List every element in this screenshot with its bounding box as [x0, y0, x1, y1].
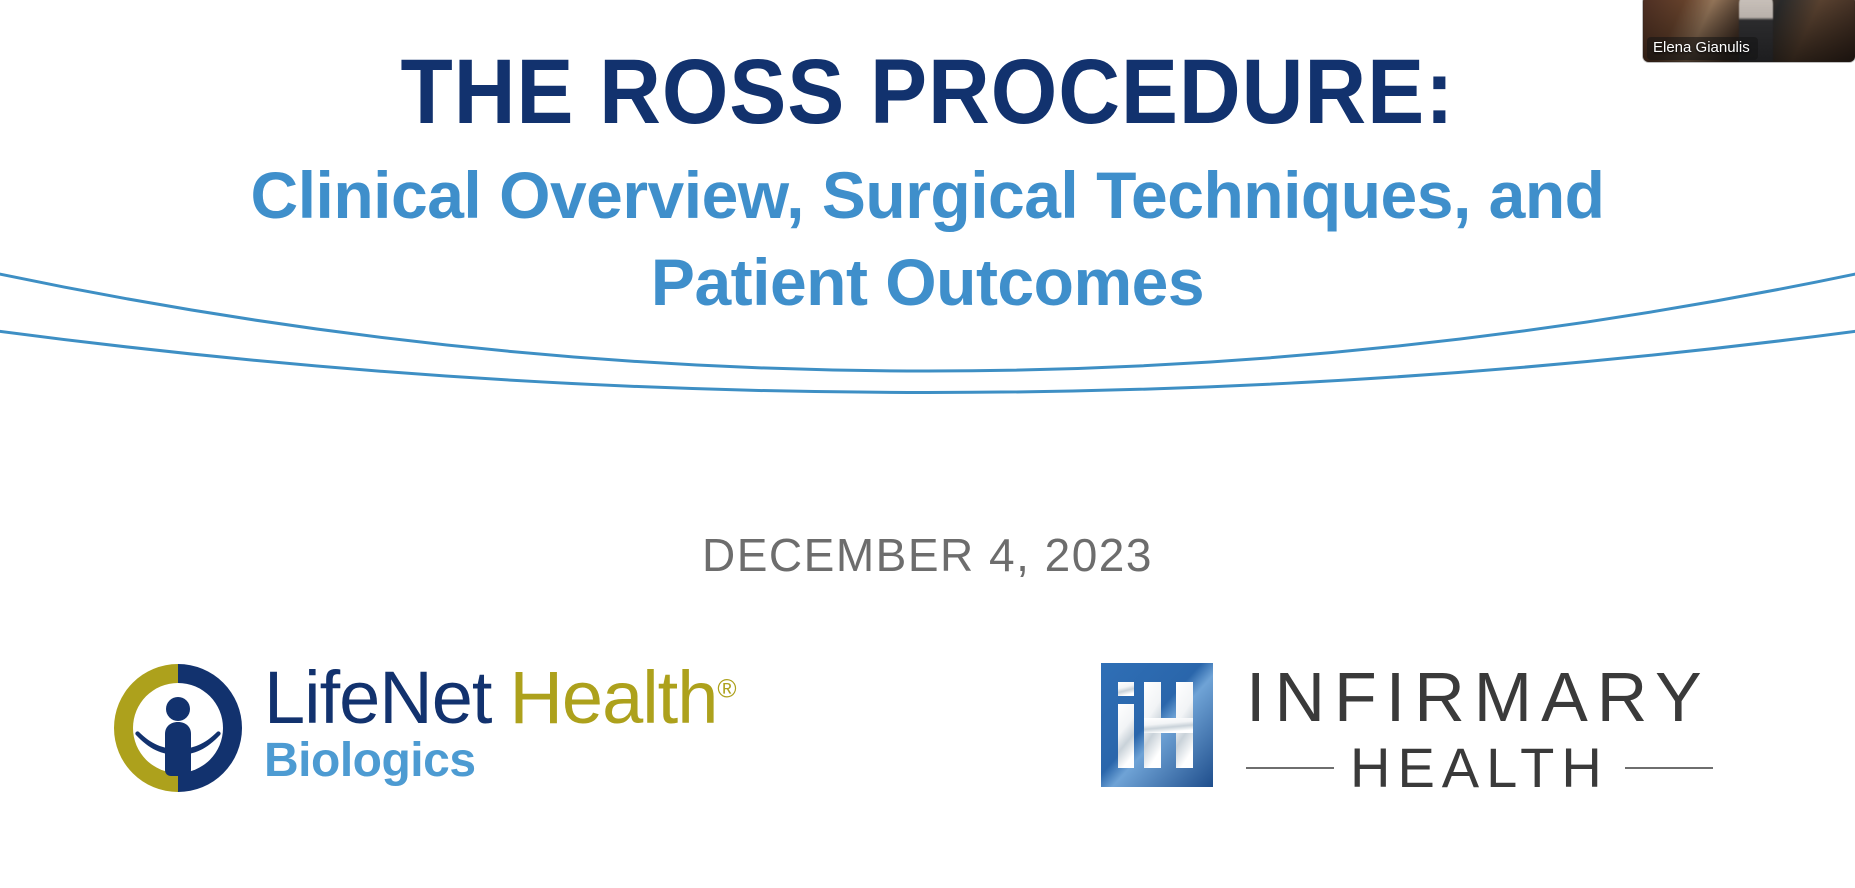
infirmary-wordmark: INFIRMARY HEALTH — [1246, 662, 1713, 796]
page-subtitle: Clinical Overview, Surgical Techniques, … — [0, 152, 1855, 326]
presentation-slide: THE ROSS PROCEDURE: Clinical Overview, S… — [0, 0, 1855, 888]
health-word: HEALTH — [1350, 740, 1609, 796]
lifenet-wordmark: LifeNetHealth® Biologics — [264, 662, 737, 785]
lifenet-tagline: Biologics — [264, 737, 737, 785]
page-title: THE ROSS PROCEDURE: — [65, 46, 1790, 138]
infirmary-health-row: HEALTH — [1246, 740, 1713, 796]
lifenet-primary-wordmark: LifeNetHealth® — [264, 662, 737, 735]
title-block: THE ROSS PROCEDURE: Clinical Overview, S… — [0, 46, 1855, 326]
rule-left — [1246, 767, 1334, 769]
infirmary-health-logo: INFIRMARY HEALTH — [1098, 660, 1713, 796]
rule-right — [1625, 767, 1713, 769]
presentation-date: DECEMBER 4, 2023 — [0, 528, 1855, 582]
registered-trademark-icon: ® — [717, 673, 736, 703]
participant-video-tile[interactable]: Elena Gianulis — [1643, 0, 1855, 62]
infirmary-word: INFIRMARY — [1246, 662, 1713, 732]
logo-row: LifeNetHealth® Biologics — [0, 650, 1855, 830]
health-word: Health — [509, 656, 717, 739]
participant-name-label: Elena Gianulis — [1647, 37, 1758, 60]
lifenet-health-logo: LifeNetHealth® Biologics — [108, 654, 737, 798]
infirmary-ih-monogram-icon — [1098, 660, 1216, 790]
subtitle-line-1: Clinical Overview, Surgical Techniques, … — [0, 152, 1855, 239]
subtitle-line-2: Patient Outcomes — [0, 239, 1855, 326]
lifenet-word: LifeNet — [264, 656, 491, 739]
lifenet-circle-figure-icon — [108, 658, 248, 798]
